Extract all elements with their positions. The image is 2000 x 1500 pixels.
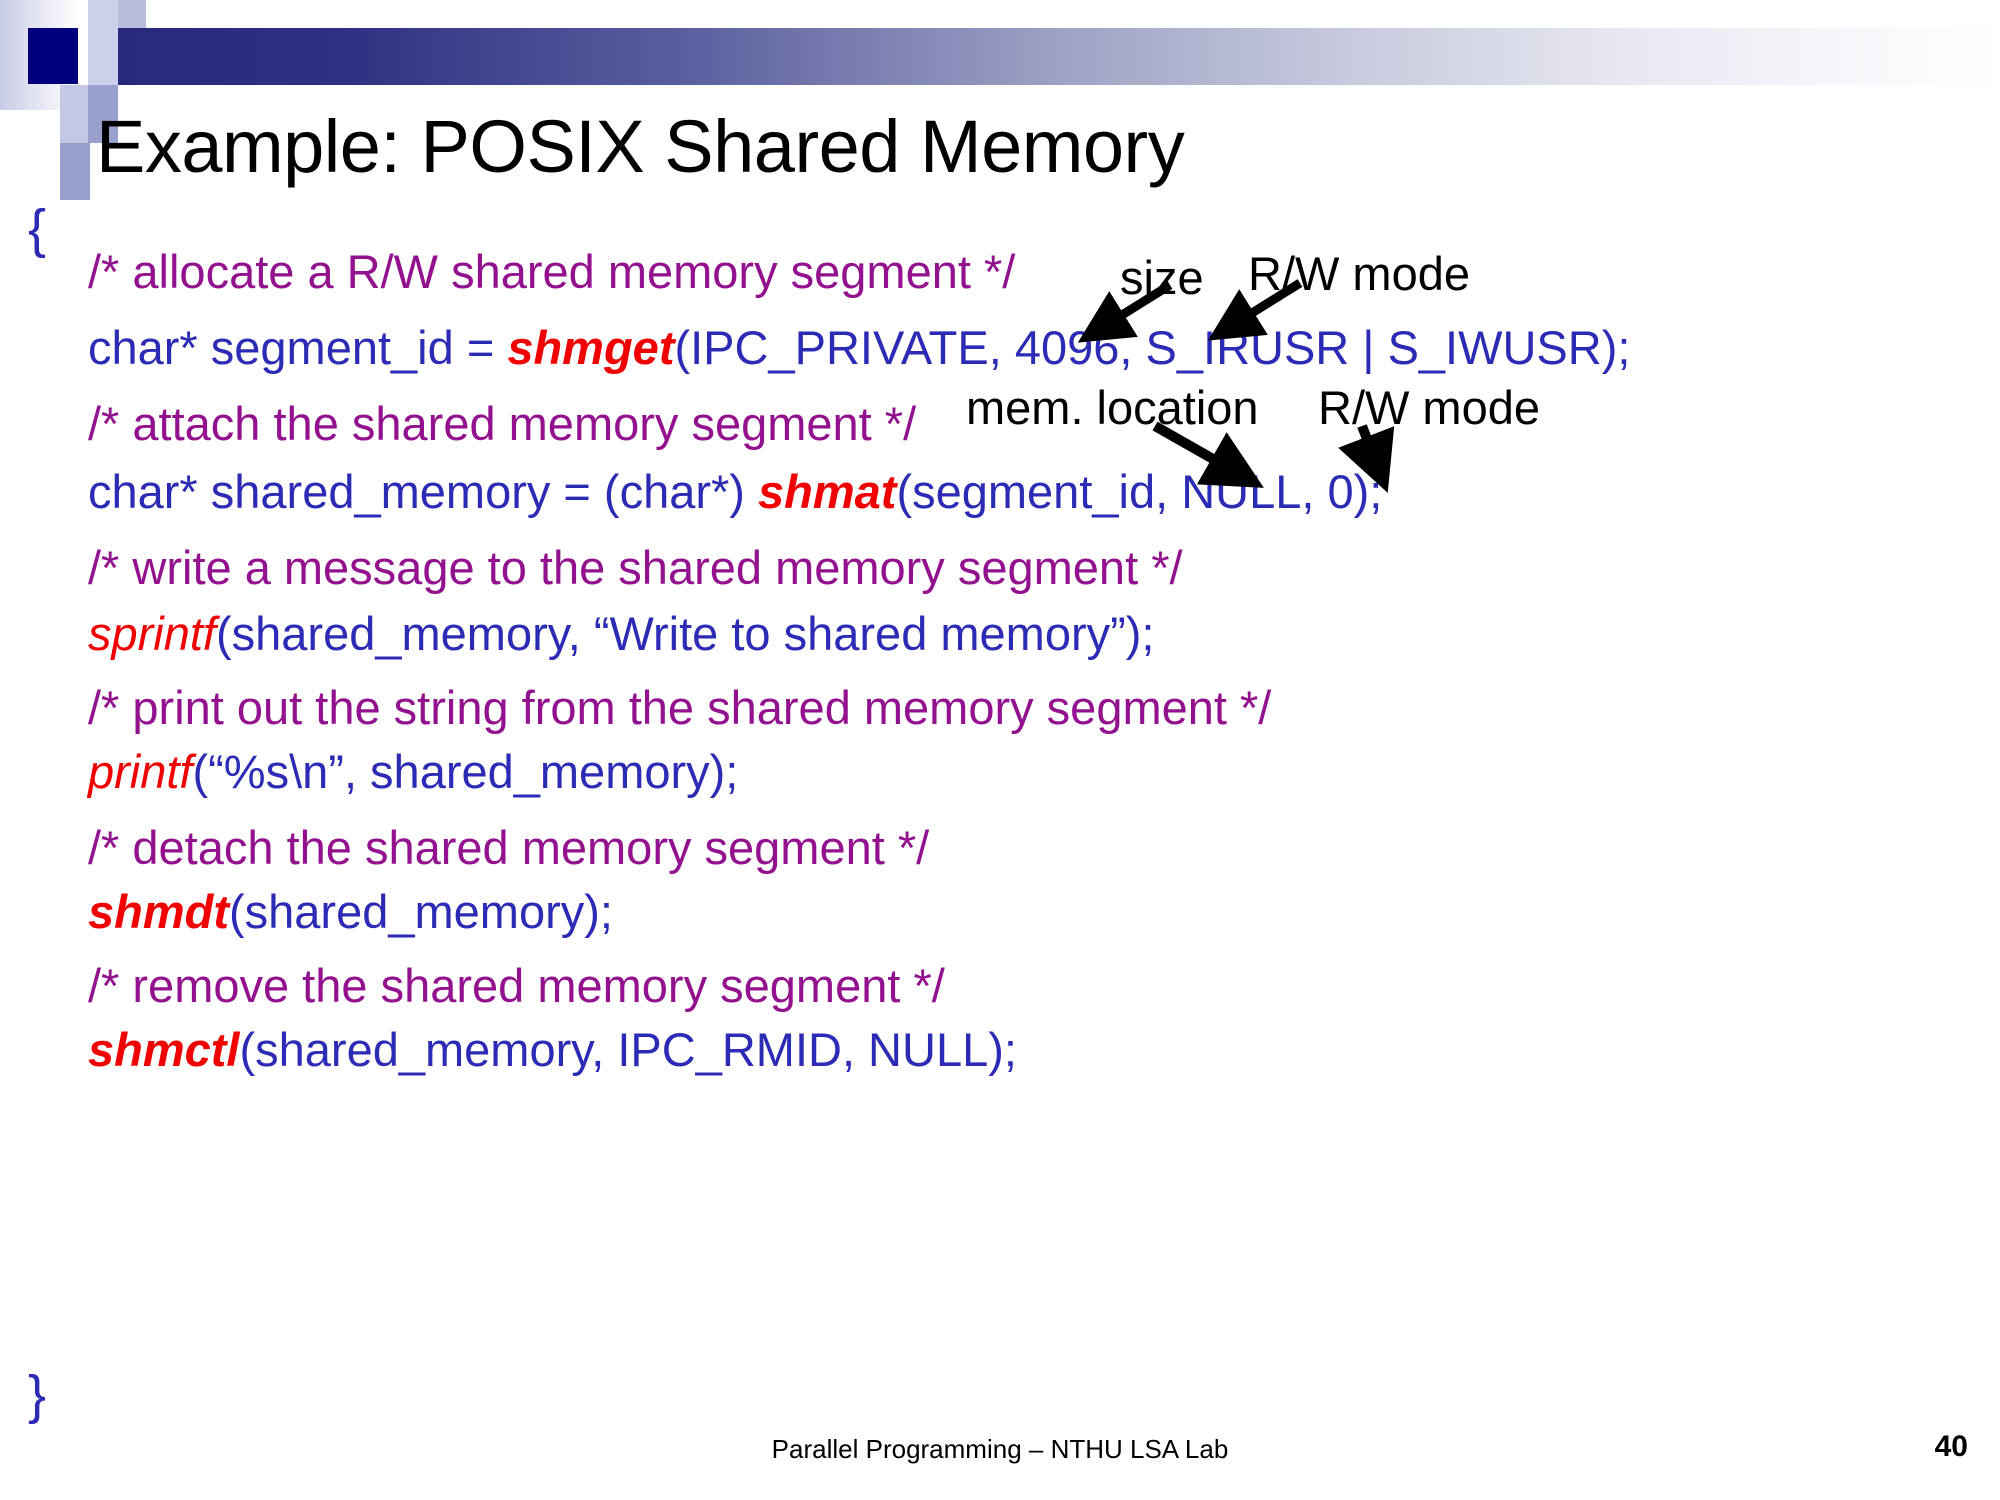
code-line: shmdt(shared_memory);: [88, 888, 613, 935]
deco-square-navy: [28, 28, 78, 84]
opening-brace: {: [28, 202, 46, 256]
code-line: printf(“%s\n”, shared_memory);: [88, 748, 738, 795]
code-line: /* remove the shared memory segment */: [88, 962, 945, 1009]
comment-text: /* print out the string from the shared …: [88, 681, 1271, 734]
code-line: /* write a message to the shared memory …: [88, 544, 1183, 591]
deco-square-light-3: [60, 85, 88, 143]
code-line: shmctl(shared_memory, IPC_RMID, NULL);: [88, 1026, 1017, 1073]
function-name: shmat: [758, 465, 896, 518]
function-name: shmctl: [88, 1023, 240, 1076]
comment-text: /* write a message to the shared memory …: [88, 541, 1183, 594]
deco-square-light-1: [88, 0, 118, 85]
code-text-post: (“%s\n”, shared_memory);: [193, 745, 739, 798]
deco-square-light-5: [118, 0, 146, 28]
code-line: /* allocate a R/W shared memory segment …: [88, 248, 1015, 295]
arrow-size-icon: [1060, 280, 1200, 370]
footer-text: Parallel Programming – NTHU LSA Lab: [0, 1434, 2000, 1465]
arrow-mem-location-icon: [1140, 418, 1300, 528]
code-line: /* detach the shared memory segment */: [88, 824, 929, 871]
code-text-pre: char* segment_id =: [88, 321, 507, 374]
function-name: printf: [88, 745, 193, 798]
arrow-rw-mode-1-icon: [1190, 278, 1330, 368]
code-text-post: (shared_memory);: [229, 885, 613, 938]
function-name: shmdt: [88, 885, 229, 938]
comment-text: /* attach the shared memory segment */: [88, 397, 916, 450]
comment-text: /* detach the shared memory segment */: [88, 821, 929, 874]
code-line: sprintf(shared_memory, “Write to shared …: [88, 610, 1155, 657]
header-gradient-bar: [118, 28, 2000, 85]
function-name: sprintf: [88, 607, 216, 660]
function-name: shmget: [507, 321, 674, 374]
code-text-post: (shared_memory, “Write to shared memory”…: [216, 607, 1155, 660]
code-text-pre: char* shared_memory = (char*): [88, 465, 758, 518]
page-title: Example: POSIX Shared Memory: [96, 104, 1184, 189]
deco-square-light-4: [60, 143, 90, 200]
comment-text: /* remove the shared memory segment */: [88, 959, 945, 1012]
comment-text: /* allocate a R/W shared memory segment …: [88, 245, 1015, 298]
code-line: /* print out the string from the shared …: [88, 684, 1271, 731]
page-number: 40: [1935, 1430, 1968, 1464]
arrow-rw-mode-2-icon: [1330, 418, 1450, 518]
code-line: char* segment_id = shmget(IPC_PRIVATE, 4…: [88, 324, 1630, 371]
code-line: /* attach the shared memory segment */: [88, 400, 916, 447]
header-decoration: [0, 0, 2000, 115]
closing-brace: }: [28, 1368, 46, 1422]
code-text-post: (shared_memory, IPC_RMID, NULL);: [240, 1023, 1017, 1076]
